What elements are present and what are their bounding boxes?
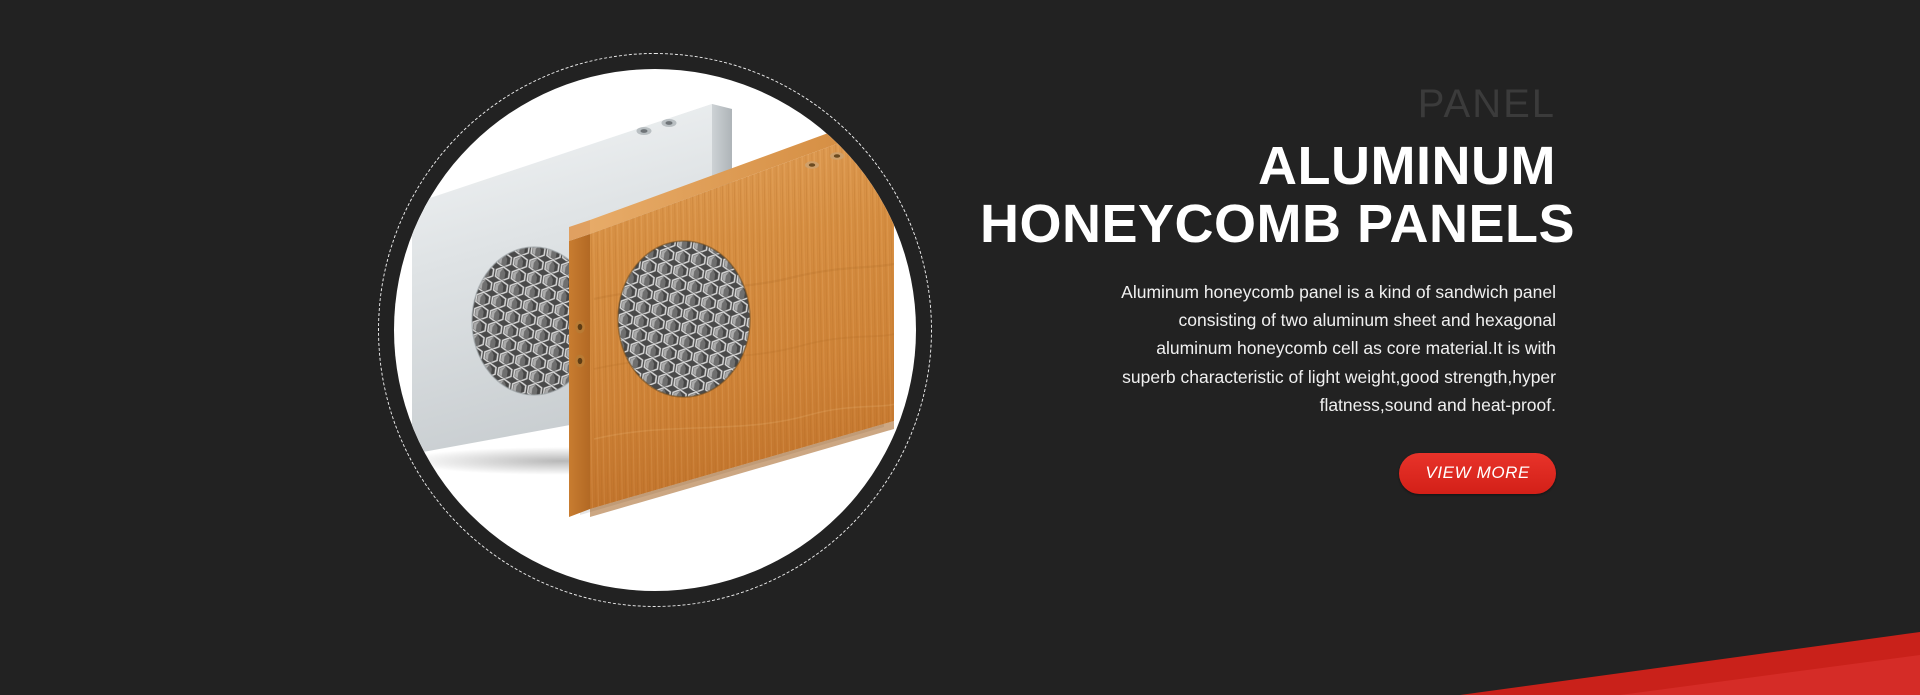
product-showcase — [378, 53, 932, 607]
product-description: Aluminum honeycomb panel is a kind of sa… — [980, 278, 1556, 420]
red-corner-wedge — [1460, 615, 1920, 695]
headline-line-1: ALUMINUM — [980, 138, 1556, 196]
view-more-button[interactable]: VIEW MORE — [1399, 453, 1556, 494]
white-disc-backdrop — [394, 69, 916, 591]
hero-banner: PANEL ALUMINUM HONEYCOMB PANELS Aluminum… — [0, 0, 1920, 695]
honeycomb-panel-illustration — [394, 69, 916, 591]
headline-line-2: HONEYCOMB PANELS — [980, 196, 1556, 254]
hero-copy-block: PANEL ALUMINUM HONEYCOMB PANELS Aluminum… — [980, 84, 1556, 494]
eyebrow-label: PANEL — [980, 84, 1556, 124]
cta-container: VIEW MORE — [980, 453, 1556, 494]
page-title: ALUMINUM HONEYCOMB PANELS — [980, 138, 1556, 254]
